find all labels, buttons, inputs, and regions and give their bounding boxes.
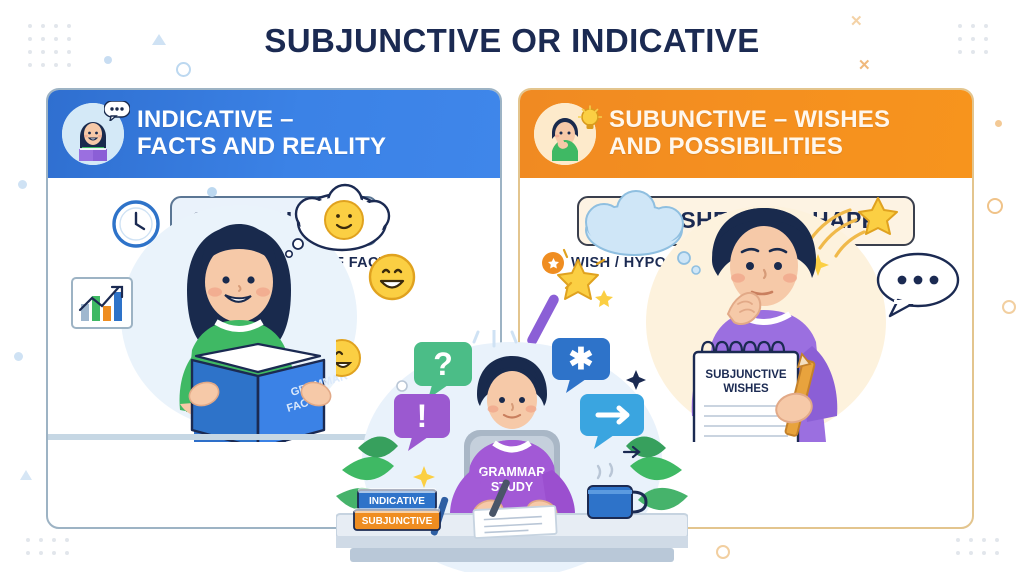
svg-text:!: ! <box>417 398 428 434</box>
svg-text:✱: ✱ <box>568 343 593 376</box>
book-indicative: INDICATIVE <box>358 488 436 510</box>
dot-grid-bottom-right <box>956 538 999 555</box>
blue-dot-center <box>14 352 23 361</box>
notepad: SUBJUNCTIVE WISHES <box>694 342 798 442</box>
orange-ring-bottom <box>716 545 730 559</box>
page-title: SUBJUNCTIVE OR INDICATIVE <box>0 22 1024 60</box>
student-studying-grammar-illustration: ? ! ✱ <box>336 330 688 572</box>
panel-indicative-title-line2: FACTS AND REALITY <box>137 134 386 161</box>
x-mark-right: ✕ <box>858 58 871 73</box>
dot-grid-bottom-left <box>26 538 69 555</box>
girl-reading-book-avatar <box>62 103 124 165</box>
svg-text:SUBJUNCTIVE: SUBJUNCTIVE <box>362 516 433 527</box>
triangle-bottom-left <box>20 470 32 480</box>
svg-text:?: ? <box>433 346 453 382</box>
lightbulb-icon <box>578 105 602 133</box>
orange-dot-right-top <box>995 120 1002 127</box>
svg-text:INDICATIVE: INDICATIVE <box>369 496 425 507</box>
thinking-boy-avatar <box>534 103 596 165</box>
speech-bubble-dots <box>878 254 958 316</box>
panel-subjunctive-title: SUBUNCTIVE – WISHES AND POSSIBILITIES <box>609 107 890 161</box>
panel-subjunctive-title-line2: AND POSSIBILITIES <box>609 134 890 161</box>
orange-ring-right <box>987 198 1003 214</box>
panel-indicative-header: INDICATIVE – FACTS AND REALITY <box>48 90 500 178</box>
book-subjunctive: SUBJUNCTIVE <box>354 508 440 530</box>
panel-indicative-title: INDICATIVE – FACTS AND REALITY <box>137 107 386 161</box>
panel-subjunctive-header: SUBUNCTIVE – WISHES AND POSSIBILITIES <box>520 90 972 178</box>
svg-text:STUDY: STUDY <box>491 480 534 494</box>
blue-dot-left-mid <box>18 180 27 189</box>
speech-bubble-icon <box>104 101 130 121</box>
svg-text:SUBJUNCTIVE: SUBJUNCTIVE <box>705 369 786 381</box>
svg-text:GRAMMAR: GRAMMAR <box>479 465 546 479</box>
panel-subjunctive-title-line1: SUBUNCTIVE – WISHES <box>609 107 890 134</box>
orange-ring-right-lower <box>1002 300 1016 314</box>
panel-indicative-title-line1: INDICATIVE – <box>137 107 386 134</box>
blue-ring-left <box>176 62 191 77</box>
svg-text:WISHES: WISHES <box>723 383 769 395</box>
